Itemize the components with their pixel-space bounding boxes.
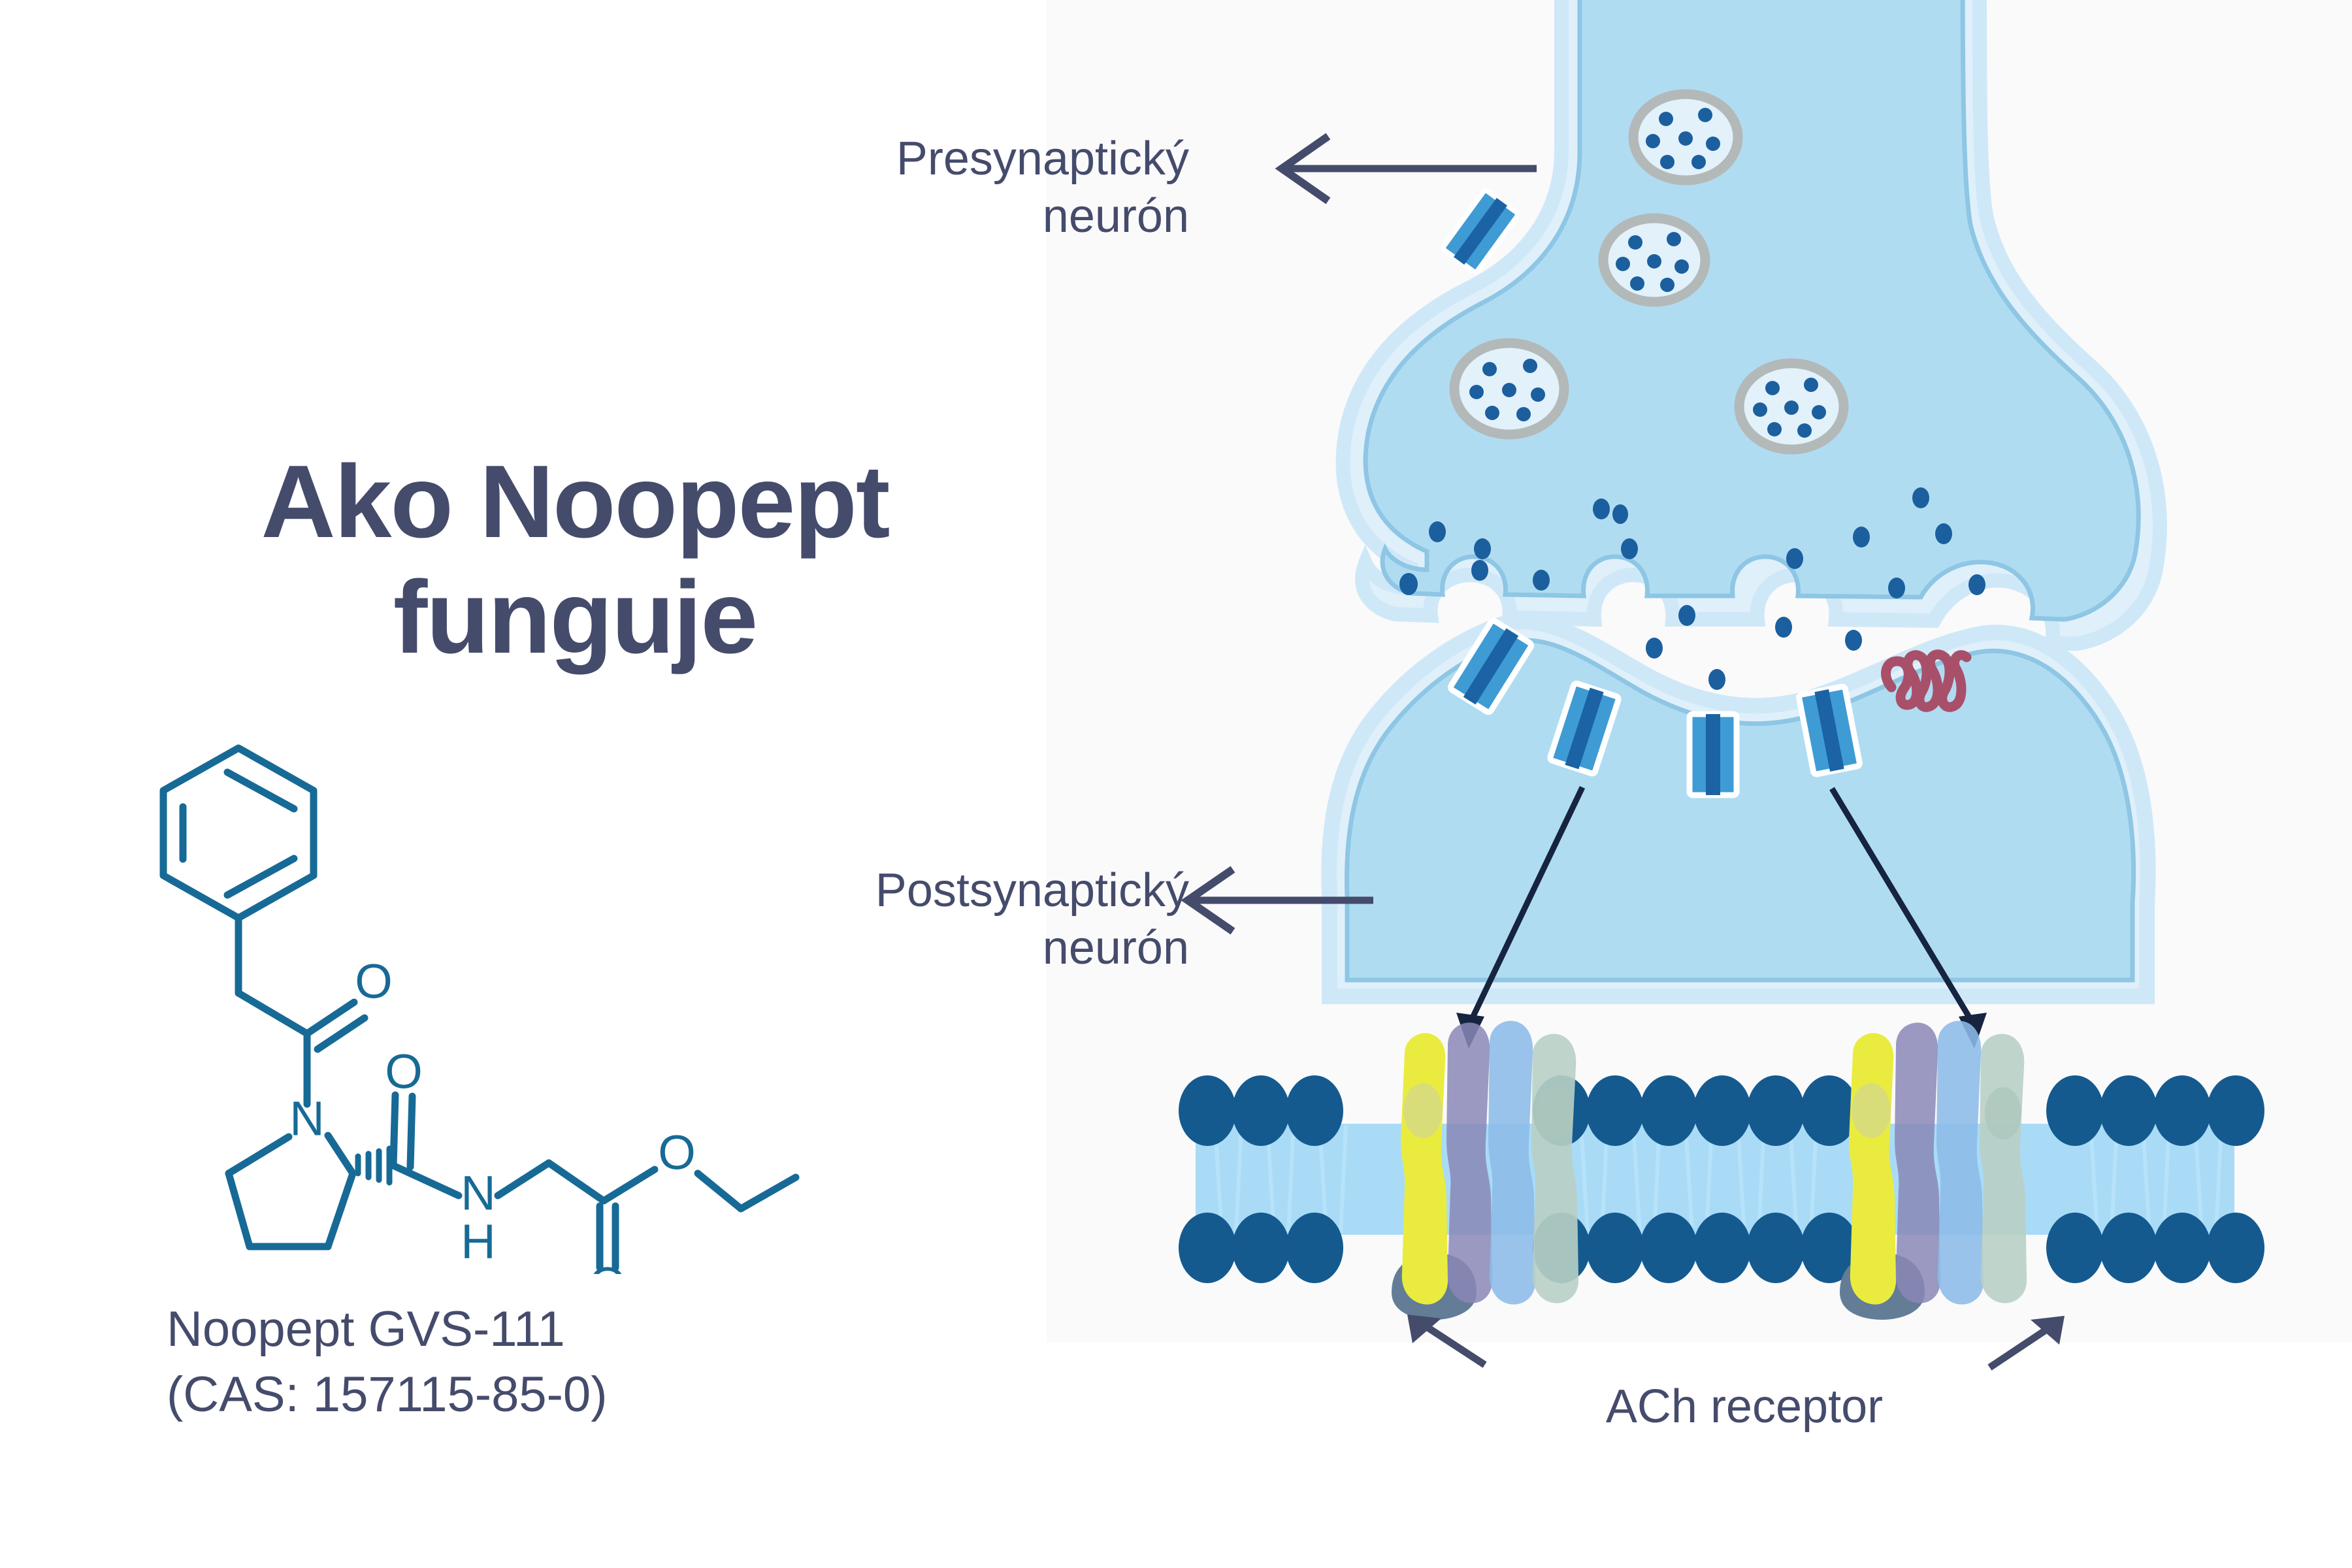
receptor-subunit-yellow <box>1849 1033 1896 1304</box>
ach-receptor <box>1392 1021 1578 1320</box>
receptor-binding-site <box>1537 1087 1573 1139</box>
postsynaptic-ion-channel <box>1690 714 1737 795</box>
label-postsynaptic-neuron: Postsynaptický neurón <box>660 862 1189 977</box>
label-arrow-presynaptic <box>1282 139 1537 199</box>
atom-label-O: O <box>589 1258 627 1274</box>
ach-callout-arrows <box>1418 1321 2055 1365</box>
page-title: Ako Noopept funguje <box>131 444 1019 676</box>
synaptic-vesicle <box>1739 363 1844 449</box>
receptor-binding-site <box>1852 1083 1891 1138</box>
receptor-subunit-purple <box>1446 1022 1492 1303</box>
synaptic-vesicle <box>1603 218 1705 302</box>
synaptic-vesicle <box>1454 343 1564 434</box>
ach-receptor <box>1840 1021 2027 1320</box>
postsynaptic-neuron <box>1329 619 2148 996</box>
receptor-subunit-blue <box>1936 1021 1984 1304</box>
noopept-structure: O N O N H O O <box>98 712 817 1274</box>
atom-label-N: N <box>289 1092 324 1146</box>
atom-label-O: O <box>385 1045 423 1099</box>
lipid-bilayer <box>1179 1021 2264 1320</box>
label-ach-receptor: ACh receptor <box>1496 1379 1993 1436</box>
receptor-binding-site <box>1985 1087 2021 1139</box>
presynaptic-neuron <box>1343 0 2160 644</box>
atom-label-O: O <box>355 955 393 1009</box>
synaptic-vesicle <box>1633 94 1738 180</box>
label-presynaptic-neuron: Presynaptický neurón <box>732 131 1189 246</box>
receptor-subunit-yellow <box>1401 1033 1448 1304</box>
receptor-subunit-purple <box>1895 1022 1940 1303</box>
receptor-subunit-green <box>1980 1034 2027 1303</box>
atom-label-O: O <box>658 1126 696 1180</box>
receptor-subunit-green <box>1531 1034 1578 1303</box>
molecule-caption: Noopept GVS-111 (CAS: 157115-85-0) <box>167 1297 608 1428</box>
atom-label-N: N <box>461 1166 495 1220</box>
receptor-subunit-blue <box>1488 1021 1535 1304</box>
receptor-binding-site <box>1403 1083 1443 1138</box>
atom-label-H: H <box>461 1215 495 1269</box>
infographic-canvas: O N O N H O O Ako Noopept funguje Noopep… <box>0 0 2352 1568</box>
